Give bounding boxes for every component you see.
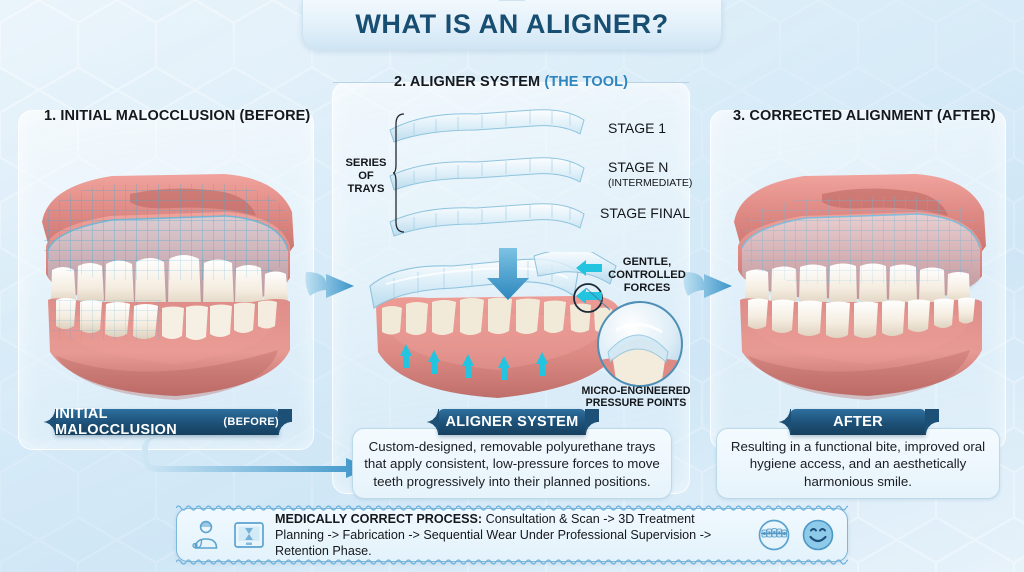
caption-after: Resulting in a functional bite, improved… [716,428,1000,499]
dental-model-before [26,150,311,410]
dental-model-aligner-placement [366,252,628,402]
page-title-banner: WHAT IS AN ALIGNER? [302,0,722,50]
tray-label-stage-1: STAGE 1 [608,120,666,138]
callout-gentle-controlled-forces: GENTLE, CONTROLLED FORCES [601,256,693,295]
pressure-point-magnifier-inset [596,300,684,388]
dentist-icon [189,518,223,552]
tray-stage-final [384,196,590,240]
tray-stage-n [384,152,590,196]
heading-section-3: 3. CORRECTED ALIGNMENT (AFTER) [733,108,996,124]
footer-process-label: MEDICALLY CORRECT PROCESS: [275,512,482,526]
heading-section-2: 2. ALIGNER SYSTEM (THE TOOL) [332,74,690,90]
series-of-trays-label: SERIES OF TRAYS [341,157,391,196]
callout-micro-engineered-pressure-points: MICRO-ENGINEERED PRESSURE POINTS [572,385,700,410]
tray-stage-1 [384,106,590,150]
braces-teeth-icon [756,518,792,552]
ribbon-after: AFTER [790,409,926,435]
heading-section-2-sub: (THE TOOL) [544,74,628,90]
page-title: WHAT IS AN ALIGNER? [355,9,668,40]
smiley-face-icon [801,518,835,552]
tray-label-stage-final: STAGE FINAL [600,205,690,223]
heading-section-1: 1. INITIAL MALOCCLUSION (BEFORE) [44,108,310,124]
ribbon-initial-malocclusion: INITIAL MALOCCLUSION (BEFORE) [55,409,279,435]
dental-model-after [718,150,1003,410]
tray-label-stage-n: STAGE N (INTERMEDIATE) [608,159,692,189]
caption-aligner-system: Custom-designed, removable polyurethane … [352,428,672,499]
footer-process-strip: MEDICALLY CORRECT PROCESS: Consultation … [176,508,848,562]
3d-scan-icon [232,518,266,552]
footer-process-text: MEDICALLY CORRECT PROCESS: Consultation … [275,511,747,559]
ribbon-aligner-system: ALIGNER SYSTEM [438,409,586,435]
heading-section-2-main: 2. ALIGNER SYSTEM [394,74,540,90]
